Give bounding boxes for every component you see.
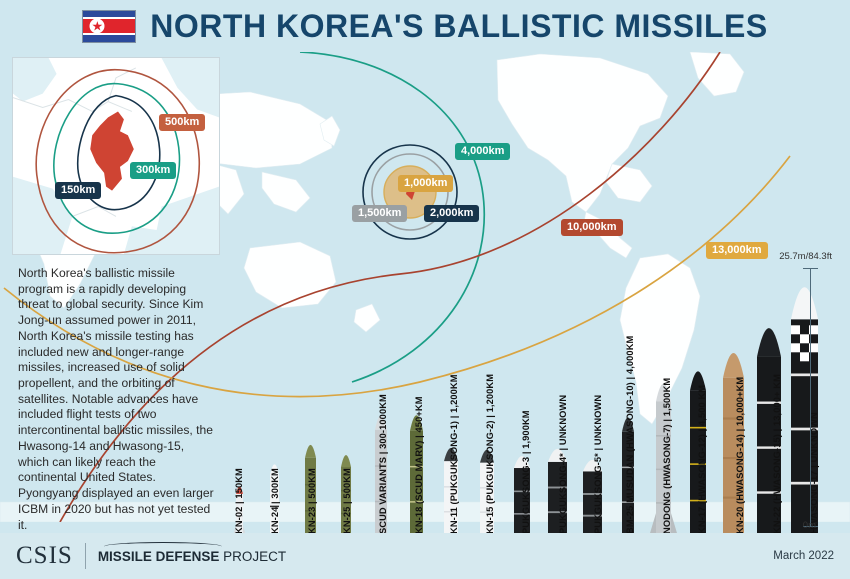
- missile-label: KN-22 (HWASONG-15) | 13,000+ KM: [772, 374, 782, 534]
- missile-entry: PUKGUKSONG-3 | 1,900KM: [514, 449, 530, 536]
- range-pill-1500km: 1,500km: [352, 205, 407, 222]
- missile-label: KN-25 | 500KM: [342, 468, 352, 534]
- missile-label: SCUD VARIANTS | 300-1000KM: [378, 394, 388, 534]
- missile-comparison-chart: KN-02 | 150KMKN-24 | 300KMKN-23 | 500KMK…: [222, 258, 822, 536]
- missile-silhouette: NODONG (HWASONG-7) | 1,500KM: [656, 373, 671, 536]
- missile-entry: KN-17 (HWASONG-12) | 4,500 KM: [690, 360, 706, 536]
- regional-range-inset-map: 500km 300km 150km: [12, 57, 220, 255]
- missile-silhouette: KN-24 | 300KM: [270, 458, 279, 536]
- missile-entry: KN-11 (PUKGUKSONG-1) | 1,200KM: [444, 440, 458, 536]
- missile-label: PUKGUKSONG-4* | UNKNOWN: [558, 395, 568, 534]
- missile-silhouette: KN-22 (HWASONG-15) | 13,000+ KM: [757, 311, 781, 536]
- missile-label: KN-15 (PUKGUKSONG-2) | 1,200KM: [485, 374, 495, 534]
- missile-entry: SCUD VARIANTS | 300-1000KM: [375, 407, 387, 536]
- range-pill-2000km: 2,000km: [424, 205, 479, 222]
- missile-entry: KN-20 (HWASONG-14) | 10,000+KM: [723, 338, 744, 536]
- flag-star-disc: ★: [90, 19, 105, 34]
- star-icon: ★: [92, 20, 104, 33]
- range-pill-10000km: 10,000km: [561, 219, 623, 236]
- missile-silhouette: SCUD VARIANTS | 300-1000KM: [375, 407, 387, 536]
- missile-entry: KN-15 (PUKGUKSONG-2) | 1,200KM: [480, 442, 494, 536]
- project-name: MISSILE DEFENSE PROJECT: [98, 549, 286, 564]
- range-pill-4000km: 4,000km: [455, 143, 510, 160]
- missile-entry: BM-25 MUSUDAN (HWASONG-10) | 4,000KM: [622, 409, 634, 536]
- project-name-bold: MISSILE DEFENSE: [98, 549, 220, 564]
- missile-label: KN-20 (HWASONG-14) | 10,000+KM: [735, 377, 745, 534]
- missile-label: KN-02 | 150KM: [234, 468, 244, 534]
- infographic-root: ★ NORTH KOREA'S BALLISTIC MISSILES: [0, 0, 850, 579]
- csis-logo: CSIS: [16, 542, 73, 570]
- missile-silhouette: PUKGUKSONG-3 | 1,900KM: [514, 449, 530, 536]
- missile-label: BM-25 MUSUDAN (HWASONG-10) | 4,000KM: [625, 336, 635, 534]
- scale-top-label: 25.7m/84.3ft: [779, 251, 832, 262]
- inset-range-pill-500km: 500km: [159, 114, 205, 131]
- page-title: NORTH KOREA'S BALLISTIC MISSILES: [150, 8, 767, 45]
- missile-silhouette: KN-20 (HWASONG-14) | 10,000+KM: [723, 338, 744, 536]
- publication-date: March 2022: [773, 550, 834, 562]
- missile-entry: KN-18 (SCUD MARV) | 450+KM: [410, 406, 423, 536]
- description-text: North Korea's ballistic missile program …: [12, 262, 220, 533]
- inset-range-pill-150km: 150km: [55, 182, 101, 199]
- missile-silhouette: KN-11 (PUKGUKSONG-1) | 1,200KM: [444, 440, 458, 536]
- missile-silhouette: PUKGUKSONG-4* | UNKNOWN: [548, 441, 567, 536]
- missile-entry: KN-24 | 300KM: [270, 458, 279, 536]
- missile-label: KN-11 (PUKGUKSONG-1) | 1,200KM: [449, 374, 459, 534]
- height-scale-bar: 25.7m/84.3ft 0m: [796, 262, 836, 532]
- missile-entry: KN-23 | 500KM: [305, 437, 316, 536]
- missile-silhouette: KN-17 (HWASONG-12) | 4,500 KM: [690, 360, 706, 536]
- inset-range-pill-300km: 300km: [130, 162, 176, 179]
- missile-label: KN-24 | 300KM: [270, 468, 280, 534]
- logo-arc: [104, 542, 222, 551]
- missile-entry: KN-22 (HWASONG-15) | 13,000+ KM: [757, 311, 781, 536]
- footer-divider: [85, 543, 86, 569]
- missile-silhouette: PUKGUKSONG-5* | UNKNOWN: [583, 453, 602, 536]
- missile-silhouette: KN-23 | 500KM: [305, 437, 316, 536]
- north-korea-flag-icon: ★: [82, 10, 136, 43]
- missile-label: PUKGUKSONG-5* | UNKNOWN: [593, 395, 603, 534]
- missile-label: KN-17 (HWASONG-12) | 4,500 KM: [697, 385, 707, 534]
- range-pill-1000km: 1,000km: [398, 175, 453, 192]
- page-footer: CSIS MISSILE DEFENSE PROJECT March 2022: [0, 533, 850, 579]
- missile-silhouette: BM-25 MUSUDAN (HWASONG-10) | 4,000KM: [622, 409, 634, 536]
- missile-entry: KN-02 | 150KM: [236, 482, 243, 536]
- missile-silhouette: KN-02 | 150KM: [236, 482, 243, 536]
- missile-label: NODONG (HWASONG-7) | 1,500KM: [662, 378, 672, 534]
- missile-label: PUKGUKSONG-3 | 1,900KM: [521, 410, 531, 534]
- missile-entry: NODONG (HWASONG-7) | 1,500KM: [656, 373, 671, 536]
- project-name-light: PROJECT: [219, 549, 286, 564]
- range-pill-13000km: 13,000km: [706, 242, 768, 259]
- missile-entry: PUKGUKSONG-5* | UNKNOWN: [583, 453, 602, 536]
- page-header: ★ NORTH KOREA'S BALLISTIC MISSILES: [0, 0, 850, 52]
- missile-label: KN-18 (SCUD MARV) | 450+KM: [414, 396, 424, 534]
- missile-silhouette: KN-18 (SCUD MARV) | 450+KM: [410, 406, 423, 536]
- missile-entry: PUKGUKSONG-4* | UNKNOWN: [548, 441, 567, 536]
- missile-silhouette: KN-25 | 500KM: [341, 448, 351, 536]
- scale-bottom-label: 0m: [803, 520, 816, 531]
- missile-silhouette: KN-15 (PUKGUKSONG-2) | 1,200KM: [480, 442, 494, 536]
- missile-label: KN-23 | 500KM: [307, 468, 317, 534]
- missile-entry: KN-25 | 500KM: [341, 448, 351, 536]
